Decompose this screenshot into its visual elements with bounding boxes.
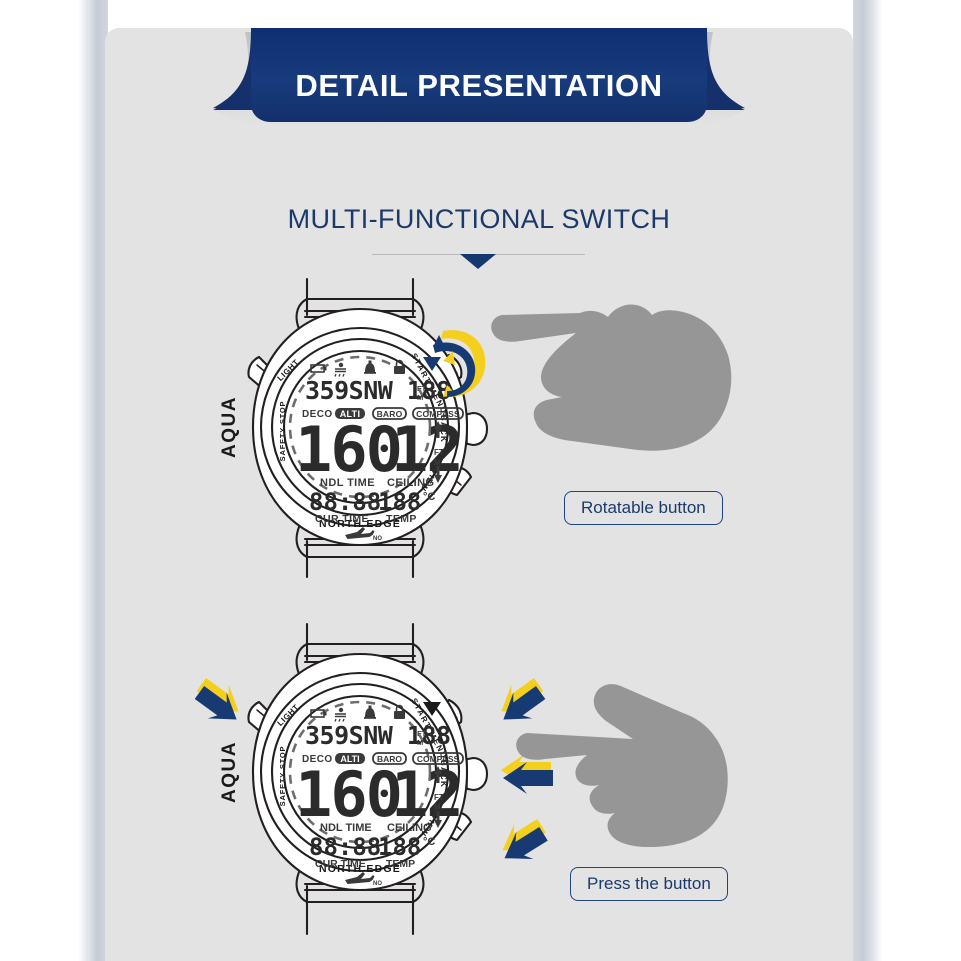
pressing-hand-icon	[516, 684, 728, 847]
lcd-top-unit-m: M	[417, 738, 423, 747]
battery-tip-icon	[324, 367, 327, 371]
lcd-top-row-value: 359SNW 188	[305, 721, 451, 750]
watch-illustration-press: AQUA NORTH EDGE LIGHT START MENU BACK VI…	[195, 618, 555, 948]
watch-lcd-display: 359SNW 188 FT M DECO ALTI BARO COMPASS	[295, 706, 463, 888]
lcd-time-value: 88:88	[309, 833, 381, 861]
lcd-secondary-value: 12	[391, 758, 462, 831]
page-root: DETAIL PRESENTATION MULTI-FUNCTIONAL SWI…	[0, 0, 961, 961]
callout-press-the-button: Press the button	[570, 867, 728, 901]
lcd-top-unit-ft: FT	[417, 729, 427, 738]
lcd-secondary-unit-m: M	[434, 803, 441, 812]
pointing-hand-icon	[491, 304, 731, 450]
header-banner-shape	[105, 28, 853, 128]
pointing-hand-illustration	[480, 283, 780, 483]
watch-brand-left: AQUA	[219, 741, 240, 803]
battery-tip-icon	[324, 712, 327, 716]
lcd-primary-value: 160	[295, 758, 401, 831]
section-title: MULTI-FUNCTIONAL SWITCH	[105, 204, 853, 235]
bezel-label-safety-stop: SAFETY STOP	[278, 746, 287, 807]
svg-text:NO: NO	[373, 881, 382, 887]
lcd-secondary-unit-m: M	[434, 458, 441, 467]
lcd-secondary-value: 12	[391, 413, 462, 486]
lcd-temp-value: 188	[378, 833, 421, 861]
lcd-time-label: CUR TIME	[315, 513, 369, 525]
press-arrow-top-left	[195, 672, 248, 733]
page-edge-left-gradient	[78, 0, 108, 961]
lcd-top-unit-m: M	[417, 393, 423, 402]
lcd-temp-unit: °C	[423, 836, 435, 848]
lcd-top-row-value: 359SNW 188	[305, 376, 451, 405]
lcd-primary-value: 160	[295, 413, 401, 486]
callout-rotatable-button: Rotatable button	[564, 491, 723, 525]
watch-illustration-rotatable: AQUA NORTH EDGE LIGHT START MENU BACK VI…	[195, 273, 525, 583]
pressing-hand-illustration	[515, 683, 785, 863]
lcd-top-unit-ft: FT	[417, 384, 427, 393]
page-edge-right-gradient	[853, 0, 883, 961]
header-banner: DETAIL PRESENTATION	[105, 28, 853, 128]
lcd-secondary-unit-ft: FT	[434, 448, 444, 457]
chevron-down-icon	[460, 254, 496, 269]
lcd-temp-label: TEMP	[386, 513, 417, 525]
lcd-time-label: CUR TIME	[315, 858, 366, 870]
lcd-temp-label: TEMP	[386, 858, 415, 870]
lcd-time-value: 88:88	[309, 488, 381, 516]
watch-brand-left: AQUA	[219, 396, 240, 458]
lcd-secondary-unit-ft: FT	[434, 793, 444, 802]
bezel-label-safety-stop: SAFETY STOP	[278, 401, 287, 462]
svg-text:NO: NO	[373, 536, 382, 542]
watch-lcd-display: 359SNW 188 FT M DECO ALTI BARO	[295, 361, 463, 543]
lcd-temp-unit: °C	[423, 491, 435, 503]
detail-card: DETAIL PRESENTATION MULTI-FUNCTIONAL SWI…	[105, 28, 853, 961]
lcd-temp-value: 188	[378, 488, 421, 516]
